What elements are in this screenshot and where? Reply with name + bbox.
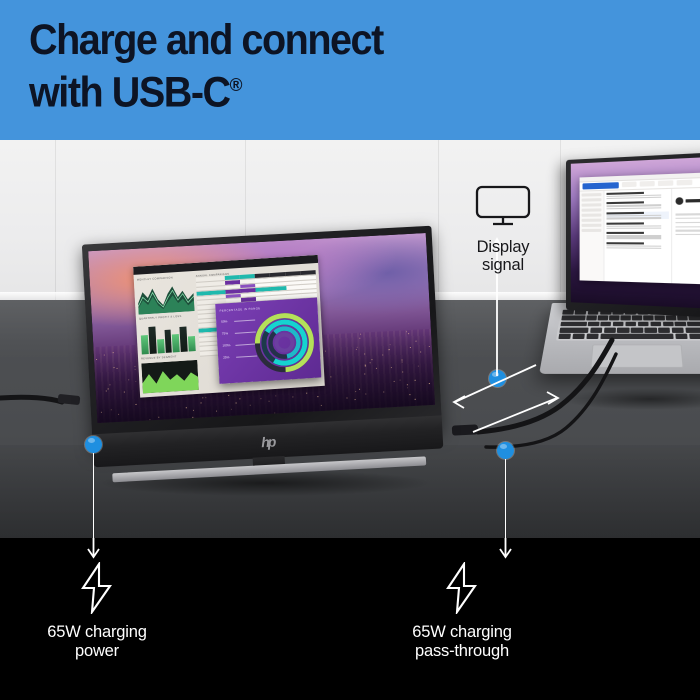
donut-ring-25	[276, 334, 293, 351]
dot-gloss	[492, 372, 499, 377]
monitor-bezel: MONTHLY COMPARISON QUARTERLY PROFIT & LO…	[82, 226, 443, 450]
legend-item: 50%	[221, 318, 255, 324]
city-light	[364, 354, 365, 355]
city-light	[321, 405, 322, 406]
city-light	[317, 396, 318, 397]
city-light	[274, 412, 275, 413]
city-light	[128, 379, 129, 380]
city-light	[193, 410, 194, 411]
city-light	[407, 387, 408, 388]
dot-gloss	[500, 444, 507, 449]
city-light	[292, 396, 293, 397]
city-light	[260, 398, 261, 399]
arrow-head-pass-through	[500, 549, 511, 557]
city-light	[394, 381, 395, 382]
monitor-icon-frame	[477, 187, 529, 217]
city-light	[408, 333, 409, 334]
city-light	[402, 359, 403, 360]
dot-gloss	[88, 438, 95, 443]
city-light	[118, 414, 119, 415]
area-chart-monthly	[137, 281, 195, 315]
legend-item: 75%	[222, 329, 256, 335]
city-light	[359, 337, 360, 338]
product-scene: MONTHLY COMPARISON QUARTERLY PROFIT & LO…	[0, 140, 700, 538]
city-light	[203, 397, 204, 398]
city-light	[360, 333, 361, 334]
city-light	[370, 362, 371, 363]
city-light	[193, 416, 194, 417]
city-light	[110, 385, 111, 386]
city-light	[402, 372, 403, 373]
concentric-donut-chart	[253, 311, 316, 375]
legend-item: 100%	[222, 341, 256, 347]
city-light	[325, 351, 326, 352]
callout-label-charging-power: 65W charging power	[0, 623, 212, 661]
city-light	[116, 368, 117, 369]
city-light	[106, 391, 107, 392]
title-line-2: with USB-C	[29, 68, 230, 116]
city-light	[135, 381, 136, 382]
bar	[172, 334, 180, 352]
city-light	[149, 419, 150, 420]
city-light	[275, 395, 276, 396]
city-light	[354, 399, 355, 400]
city-light	[383, 392, 384, 393]
legend-leader-line	[234, 319, 255, 321]
city-light	[389, 344, 390, 345]
city-light	[355, 391, 356, 392]
city-light	[201, 402, 202, 403]
legend-label: 100%	[222, 343, 233, 348]
page-title: Charge and connectwith USB-C®	[29, 18, 383, 115]
city-light	[415, 340, 416, 341]
city-light	[415, 380, 416, 381]
registered-trademark-icon: ®	[230, 75, 243, 96]
bar	[157, 339, 165, 354]
city-light	[110, 409, 111, 410]
city-light	[388, 349, 389, 350]
legend-label: 50%	[221, 319, 232, 324]
callout-display-signal: Display signal	[462, 185, 544, 274]
city-light	[415, 399, 416, 400]
legend-label: 25%	[223, 355, 234, 360]
city-light	[104, 354, 105, 355]
product-feature-graphic: Charge and connectwith USB-C®	[0, 0, 700, 700]
city-light	[231, 409, 232, 410]
city-light	[239, 398, 240, 399]
callout-line-charging-power	[93, 452, 95, 538]
city-light	[429, 383, 430, 384]
city-light	[108, 388, 109, 389]
dashboard-charts-column: MONTHLY COMPARISON QUARTERLY PROFIT & LO…	[137, 275, 199, 397]
city-light	[364, 365, 365, 366]
city-light	[205, 397, 206, 398]
city-light	[407, 385, 408, 386]
city-light	[134, 365, 135, 366]
city-light	[406, 331, 407, 332]
city-light	[418, 365, 419, 366]
legend-leader-line	[236, 355, 257, 357]
city-light	[136, 404, 137, 405]
city-light	[135, 369, 136, 370]
city-light	[372, 359, 373, 360]
city-light	[359, 389, 360, 390]
city-light	[389, 349, 390, 350]
city-light	[409, 394, 410, 395]
portable-monitor: MONTHLY COMPARISON QUARTERLY PROFIT & LO…	[82, 226, 444, 483]
city-light	[347, 397, 348, 398]
city-light	[101, 412, 102, 413]
bolt-outline	[83, 564, 110, 612]
city-light	[112, 352, 113, 353]
title-line-1: Charge and connect	[29, 16, 383, 64]
callout-dot-charging-power[interactable]	[85, 436, 102, 453]
area-chart-revenue	[141, 360, 199, 394]
callout-charging-pass-through: 65W charging pass-through	[347, 562, 577, 661]
callout-dot-pass-through[interactable]	[497, 442, 514, 459]
callout-label-charging-pass-through: 65W charging pass-through	[347, 623, 577, 661]
bolt-outline	[448, 564, 475, 612]
monitor-icon	[475, 185, 531, 227]
city-light	[400, 380, 401, 381]
city-light	[185, 407, 186, 408]
city-light	[96, 359, 97, 360]
bar	[141, 335, 149, 355]
city-light	[113, 367, 114, 368]
city-light	[236, 403, 237, 404]
footer-band: 65W charging power 65W charging pass-thr…	[0, 538, 700, 700]
header-banner: Charge and connectwith USB-C®	[0, 0, 700, 140]
lightning-bolt-icon	[77, 562, 117, 614]
legend-item: 25%	[223, 353, 257, 359]
city-light	[124, 392, 125, 393]
city-light	[228, 395, 229, 396]
city-light	[216, 410, 217, 411]
city-light	[269, 401, 270, 402]
bar	[148, 326, 156, 354]
bar-chart-quarterly	[139, 320, 197, 355]
lightning-bolt-icon	[442, 562, 482, 614]
donut-legend: 50% 75% 100% 25%	[221, 318, 258, 368]
donut-chart-area: 50% 75% 100% 25%	[220, 310, 317, 380]
legend-label: 75%	[222, 331, 233, 336]
usb-c-connector-right	[452, 424, 478, 435]
city-light	[356, 349, 357, 350]
callout-label-display-signal: Display signal	[462, 238, 544, 274]
city-light	[306, 392, 307, 393]
city-light	[364, 364, 365, 365]
arrow-head-charging-power	[88, 549, 99, 557]
city-light	[376, 368, 377, 369]
callout-charging-power: 65W charging power	[0, 562, 212, 661]
legend-leader-line	[235, 343, 256, 345]
city-light	[401, 361, 402, 362]
hp-logo: hp	[261, 433, 275, 450]
city-light	[364, 373, 365, 374]
city-light	[410, 346, 411, 347]
bar	[180, 327, 188, 352]
city-light	[382, 355, 383, 356]
city-light	[158, 417, 159, 418]
city-light	[420, 352, 421, 353]
city-light	[102, 423, 103, 424]
monitor-screen: MONTHLY COMPARISON QUARTERLY PROFIT & LO…	[88, 233, 435, 423]
city-light	[365, 393, 366, 394]
city-light	[429, 346, 430, 347]
callout-line-pass-through	[505, 458, 507, 538]
callout-dot-display-signal[interactable]	[489, 370, 506, 387]
city-light	[391, 367, 392, 368]
city-light	[249, 405, 250, 406]
bar	[188, 336, 196, 352]
legend-leader-line	[235, 331, 256, 333]
percentage-chart-window: PERCENTAGE IN RANGE 50% 75% 100% 25%	[215, 297, 321, 383]
city-light	[330, 377, 331, 378]
monitor-power-cable	[0, 397, 62, 402]
bar	[164, 330, 172, 353]
